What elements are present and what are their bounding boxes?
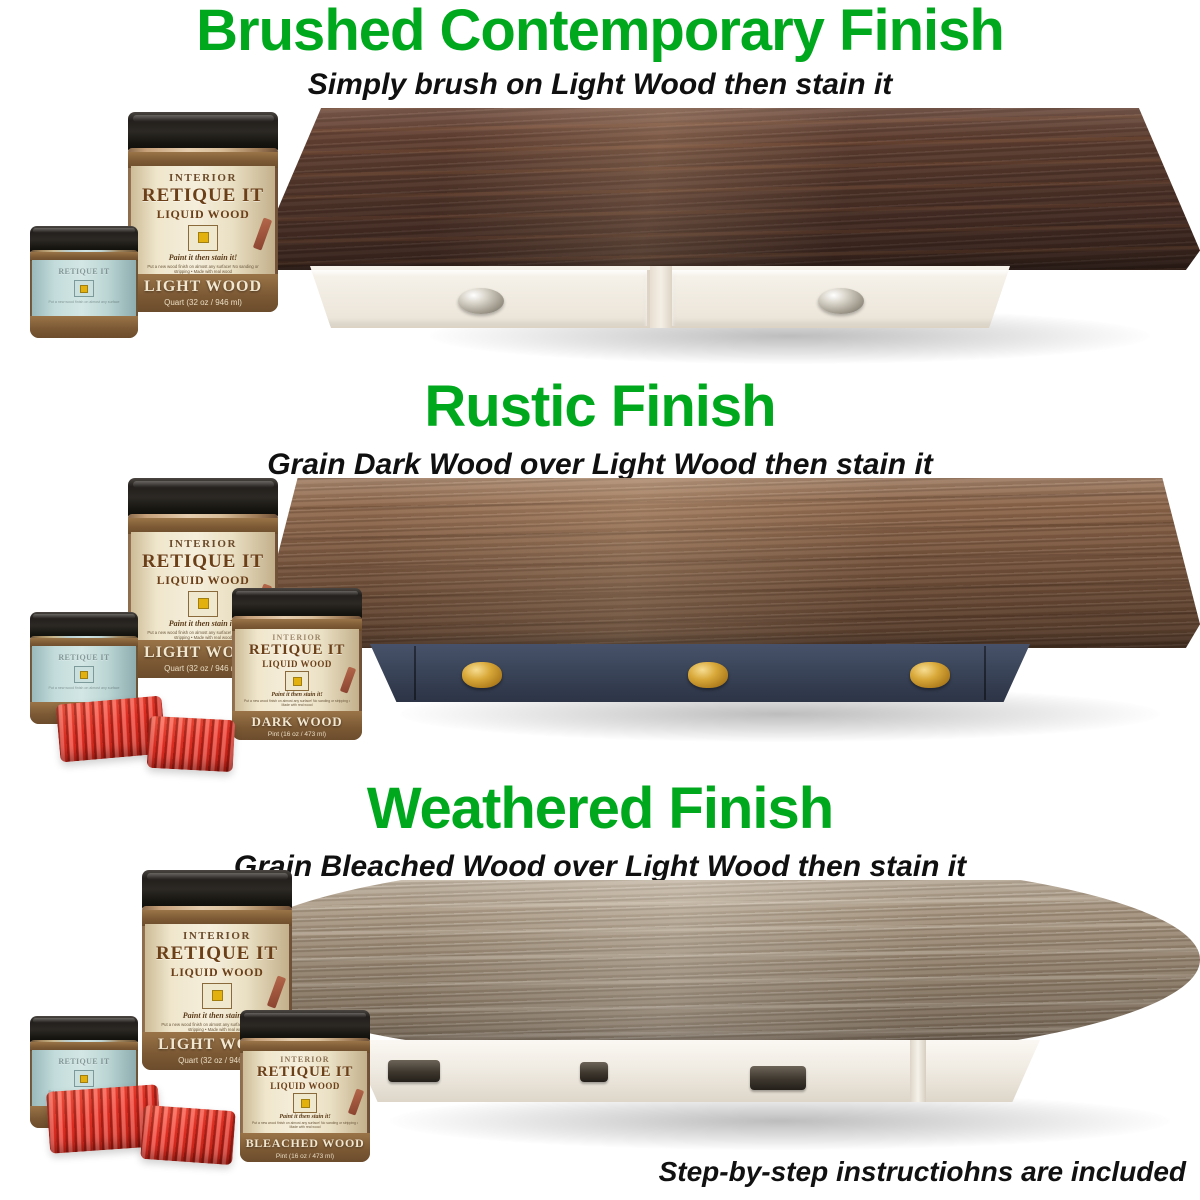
surface-edge-shade <box>260 108 1200 270</box>
jar-label-brand: RETIQUE IT <box>131 551 275 573</box>
drawer-knob-nickel-left[interactable] <box>458 288 504 314</box>
product-jar-bleached-wood-pint[interactable]: INTERIOR RETIQUE IT LIQUID WOOD Paint it… <box>240 1010 370 1162</box>
jar-label-tagline: Paint it then stain it! <box>243 1114 368 1120</box>
jar-label-crest <box>74 666 94 683</box>
drawer-pull-ornate-1[interactable] <box>388 1060 440 1082</box>
jar-label-brand: RETIQUE IT <box>32 1057 136 1066</box>
jar-label-product-line: LIQUID WOOD <box>145 965 289 980</box>
drawer-pull-ornate-2[interactable] <box>750 1066 806 1090</box>
section-rustic: Rustic Finish Grain Dark Wood over Light… <box>0 370 1200 770</box>
paint-brush-icon <box>348 1088 364 1115</box>
jar-label-fine-print: Put a new wood finish on almost any surf… <box>32 300 136 304</box>
jar-label-tagline: Paint it then stain it! <box>131 253 275 262</box>
jar-lid <box>142 870 292 910</box>
section-heading-weathered: Weathered Finish <box>0 780 1200 838</box>
jar-body: RETIQUE IT Put a new wood finish on almo… <box>30 250 138 338</box>
jar-body: INTERIOR RETIQUE IT LIQUID WOOD Paint it… <box>240 1038 370 1162</box>
desktop-surface-dark-walnut <box>260 108 1200 270</box>
drawer-pull-brass-1[interactable] <box>462 662 502 688</box>
jar-label-interior: INTERIOR <box>145 930 289 942</box>
furniture-photo-weathered <box>250 880 1200 1140</box>
drawer-divider <box>650 266 672 328</box>
fleur-de-lis-icon <box>212 990 223 1001</box>
jar-label: RETIQUE IT Put a new wood finish on almo… <box>32 260 136 316</box>
jar-label-fine-print: Put a new wood finish on almost any surf… <box>32 686 136 690</box>
jar-label-crest <box>74 1070 94 1087</box>
jar-label-product-line: LIQUID WOOD <box>131 573 275 588</box>
jar-label-product-line: LIQUID WOOD <box>243 1081 368 1091</box>
drawer-knob-nickel-right[interactable] <box>818 288 864 314</box>
section-subheading-brushed-contemporary: Simply brush on Light Wood then stain it <box>0 70 1200 100</box>
fleur-de-lis-icon <box>198 598 209 609</box>
fleur-de-lis-icon <box>301 1099 310 1108</box>
jar-label-brand: RETIQUE IT <box>32 653 136 662</box>
furniture-photo-rustic <box>250 478 1200 728</box>
jar-size: Quart (32 oz / 946 ml) <box>128 298 278 307</box>
jar-label-product-line: LIQUID WOOD <box>131 207 275 222</box>
drawer-seam-right <box>984 646 986 700</box>
surface-edge-shade <box>260 478 1200 648</box>
jar-lid <box>128 478 278 518</box>
jar-band-bottom <box>30 316 138 338</box>
jar-label-crest <box>285 671 309 691</box>
tool-graining-rocker-2[interactable] <box>147 716 236 772</box>
jar-label-crest <box>202 983 232 1009</box>
furniture-photo-brushed-contemporary <box>250 108 1200 348</box>
jar-size: Pint (16 oz / 473 ml) <box>232 731 362 738</box>
drawer-bank <box>310 266 1010 328</box>
jar-label-crest <box>293 1093 317 1113</box>
jar-label-brand: RETIQUE IT <box>235 642 360 659</box>
drawer-knob-ornate-center[interactable] <box>580 1062 608 1082</box>
fleur-de-lis-icon <box>80 1075 88 1083</box>
section-heading-brushed-contemporary: Brushed Contemporary Finish <box>0 2 1200 60</box>
rocker-comb-face <box>147 716 236 772</box>
jar-label-crest <box>188 225 218 251</box>
jar-variant-name: DARK WOOD <box>232 714 362 730</box>
drawer-pull-brass-3[interactable] <box>910 662 950 688</box>
tool-graining-rocker-2[interactable] <box>140 1105 236 1165</box>
jar-label-interior: INTERIOR <box>243 1055 368 1064</box>
jar-label-brand: RETIQUE IT <box>243 1064 368 1081</box>
drawer-bank <box>350 1040 1040 1102</box>
jar-body: INTERIOR RETIQUE IT LIQUID WOOD Paint it… <box>128 148 278 312</box>
desktop-surface-weathered-driftwood <box>260 880 1200 1046</box>
drawer-bank <box>370 644 1030 702</box>
jar-label: RETIQUE IT Put a new wood finish on almo… <box>32 646 136 702</box>
jar-label-fine-print: Put a new wood finish on almost any surf… <box>243 1121 368 1130</box>
drawer-pull-brass-2[interactable] <box>688 662 728 688</box>
fleur-de-lis-icon <box>80 285 88 293</box>
jar-size: Pint (16 oz / 473 ml) <box>240 1153 370 1160</box>
jar-label-crest <box>74 280 94 297</box>
product-jar-light-wood-quart[interactable]: INTERIOR RETIQUE IT LIQUID WOOD Paint it… <box>128 112 278 312</box>
jar-label-tagline: Paint it then stain it! <box>235 692 360 698</box>
surface-edge-shade <box>260 880 1200 1046</box>
drawer-seam <box>910 1040 926 1102</box>
jar-label-interior: INTERIOR <box>131 538 275 550</box>
jar-label-brand: RETIQUE IT <box>32 267 136 276</box>
jar-label-product-line: LIQUID WOOD <box>235 659 360 669</box>
drawer-seam-left <box>414 646 416 700</box>
jar-label: INTERIOR RETIQUE IT LIQUID WOOD Paint it… <box>235 629 360 711</box>
product-jar-stain-small[interactable]: RETIQUE IT Put a new wood finish on almo… <box>30 226 138 338</box>
jar-variant-name: LIGHT WOOD <box>128 278 278 296</box>
desktop-surface-rustic-walnut <box>260 478 1200 648</box>
fleur-de-lis-icon <box>198 232 209 243</box>
jar-label-fine-print: Put a new wood finish on almost any surf… <box>235 699 360 708</box>
jar-lid <box>128 112 278 152</box>
jar-label-interior: INTERIOR <box>235 633 360 642</box>
product-jar-dark-wood-pint[interactable]: INTERIOR RETIQUE IT LIQUID WOOD Paint it… <box>232 588 362 740</box>
paint-brush-icon <box>253 217 272 250</box>
jar-label-crest <box>188 591 218 617</box>
jar-body: INTERIOR RETIQUE IT LIQUID WOOD Paint it… <box>232 616 362 740</box>
infographic-canvas: Brushed Contemporary Finish Simply brush… <box>0 0 1200 1200</box>
rocker-comb-face <box>140 1105 236 1165</box>
jar-label: INTERIOR RETIQUE IT LIQUID WOOD Paint it… <box>131 166 275 274</box>
section-weathered: Weathered Finish Grain Bleached Wood ove… <box>0 770 1200 1200</box>
jar-label-brand: RETIQUE IT <box>145 943 289 965</box>
jar-label-fine-print: Put a new wood finish on almost any surf… <box>131 264 275 275</box>
jar-variant-name: BLEACHED WOOD <box>240 1136 370 1151</box>
paint-brush-icon <box>340 666 356 693</box>
paint-brush-icon <box>267 975 286 1008</box>
fleur-de-lis-icon <box>293 677 302 686</box>
footnote-instructions-included: Step-by-step instructiohns are included <box>659 1156 1186 1188</box>
jar-label-interior: INTERIOR <box>131 172 275 184</box>
section-heading-rustic: Rustic Finish <box>0 378 1200 436</box>
jar-label-brand: RETIQUE IT <box>131 185 275 207</box>
fleur-de-lis-icon <box>80 671 88 679</box>
section-brushed-contemporary: Brushed Contemporary Finish Simply brush… <box>0 0 1200 370</box>
jar-label: INTERIOR RETIQUE IT LIQUID WOOD Paint it… <box>243 1051 368 1133</box>
section-subheading-rustic: Grain Dark Wood over Light Wood then sta… <box>0 450 1200 480</box>
